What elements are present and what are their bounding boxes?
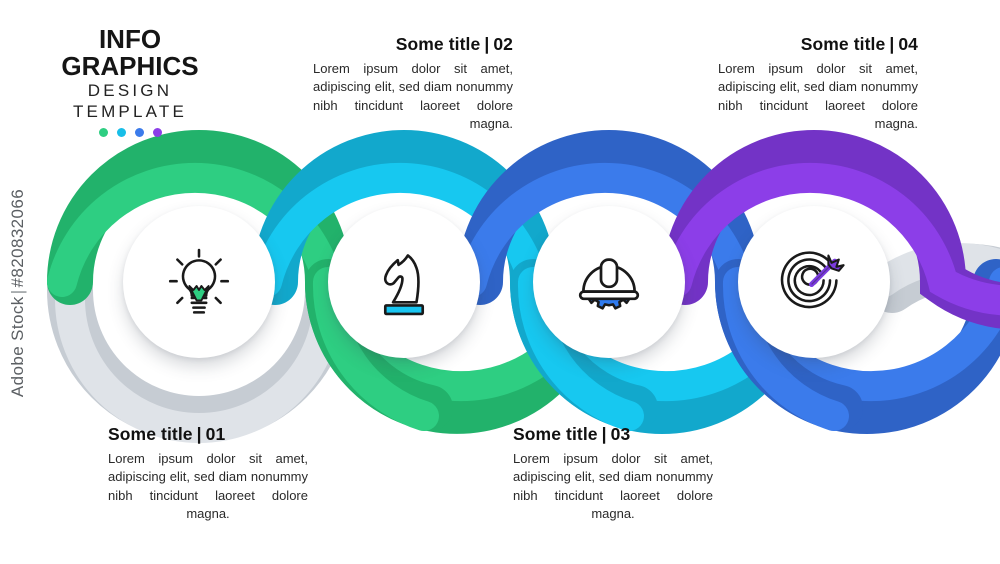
logo-block: INFO GRAPHICS DESIGN TEMPLATE — [30, 26, 230, 137]
watermark-id: #820832066 — [8, 189, 27, 288]
step-node-02[interactable] — [328, 206, 480, 358]
logo-dot-2 — [117, 128, 126, 137]
step-node-03[interactable] — [533, 206, 685, 358]
target-arrow-icon — [738, 206, 890, 358]
info-title-text: Some title — [513, 424, 598, 444]
info-title-02: Some title|02 — [313, 34, 513, 55]
watermark-label: Adobe Stock — [8, 296, 27, 397]
info-block-04: Some title|04 Lorem ipsum dolor sit amet… — [718, 34, 918, 134]
info-title-text: Some title — [396, 34, 481, 54]
info-block-02: Some title|02 Lorem ipsum dolor sit amet… — [313, 34, 513, 134]
logo-line-graphics: GRAPHICS — [30, 53, 230, 80]
info-title-03: Some title|03 — [513, 424, 713, 445]
info-body-02: Lorem ipsum dolor sit amet, adipiscing e… — [313, 60, 513, 134]
watermark-separator: | — [8, 287, 27, 296]
info-title-number: 02 — [493, 34, 513, 54]
info-body-03: Lorem ipsum dolor sit amet, adipiscing e… — [513, 450, 713, 524]
info-title-number: 04 — [898, 34, 918, 54]
info-title-separator: | — [480, 34, 493, 54]
logo-dot-1 — [99, 128, 108, 137]
info-title-separator: | — [193, 424, 206, 444]
info-title-number: 01 — [206, 424, 226, 444]
safety-helmet-gear-icon — [533, 206, 685, 358]
info-title-01: Some title|01 — [108, 424, 308, 445]
step-node-01[interactable] — [123, 206, 275, 358]
chess-knight-icon — [328, 206, 480, 358]
watermark-adobe-stock: Adobe Stock|#820832066 — [8, 153, 38, 433]
info-title-separator: | — [598, 424, 611, 444]
info-title-04: Some title|04 — [718, 34, 918, 55]
info-body-01: Lorem ipsum dolor sit amet, adipiscing e… — [108, 450, 308, 524]
info-block-01: Some title|01 Lorem ipsum dolor sit amet… — [108, 424, 308, 524]
info-title-text: Some title — [801, 34, 886, 54]
info-title-number: 03 — [611, 424, 631, 444]
info-body-04: Lorem ipsum dolor sit amet, adipiscing e… — [718, 60, 918, 134]
logo-dot-4 — [153, 128, 162, 137]
infographic-canvas: Adobe Stock|#820832066 INFO GRAPHICS DES… — [0, 0, 1000, 564]
info-title-separator: | — [885, 34, 898, 54]
step-node-04[interactable] — [738, 206, 890, 358]
logo-line-info: INFO — [30, 26, 230, 53]
info-title-text: Some title — [108, 424, 193, 444]
lightbulb-icon — [123, 206, 275, 358]
logo-line-template: TEMPLATE — [30, 101, 230, 123]
logo-dot-row — [30, 128, 230, 137]
logo-line-design: DESIGN — [30, 80, 230, 102]
logo-dot-3 — [135, 128, 144, 137]
info-block-03: Some title|03 Lorem ipsum dolor sit amet… — [513, 424, 713, 524]
